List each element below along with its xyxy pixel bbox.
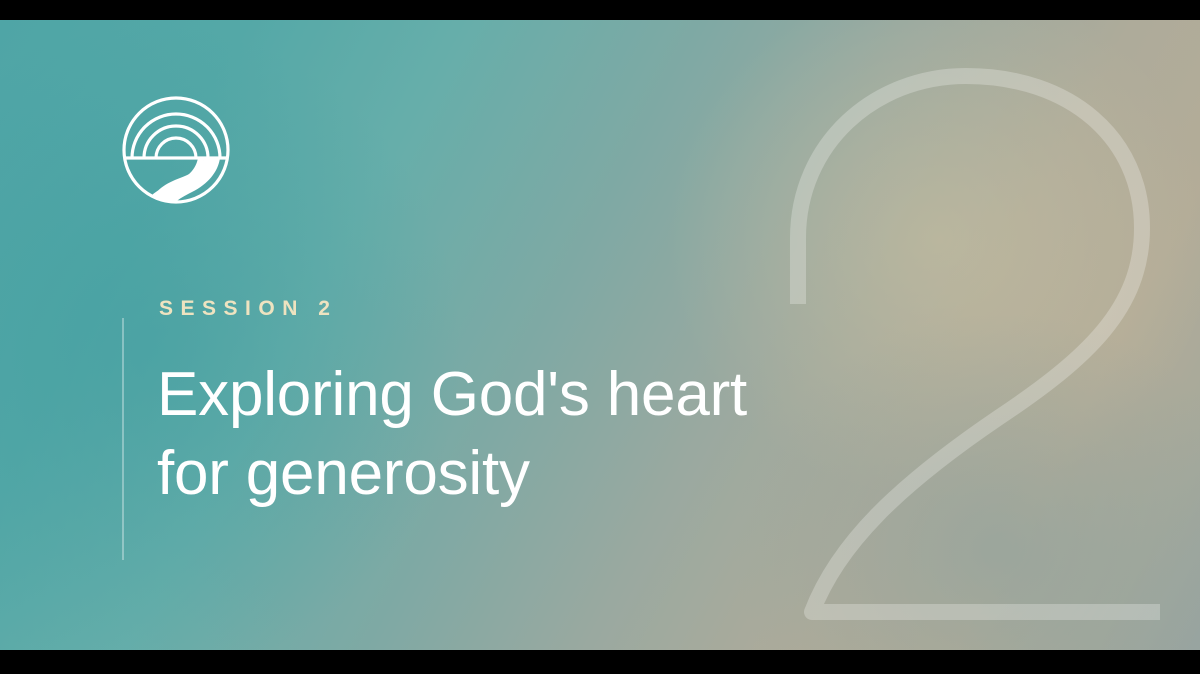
page-title-line-2: for generosity: [157, 434, 882, 513]
letterbox-bar-bottom: [0, 650, 1200, 674]
letterbox-bar-top: [0, 0, 1200, 20]
session-eyebrow-label: SESSION 2: [159, 298, 882, 319]
brand-logo-icon: [118, 92, 234, 208]
page-title-line-1: Exploring God's heart: [157, 355, 882, 434]
page-title: Exploring God's heart for generosity: [157, 355, 882, 514]
presentation-slide: SESSION 2 Exploring God's heart for gene…: [0, 0, 1200, 674]
slide-text-block: SESSION 2 Exploring God's heart for gene…: [122, 298, 882, 514]
slide-canvas: SESSION 2 Exploring God's heart for gene…: [0, 20, 1200, 650]
